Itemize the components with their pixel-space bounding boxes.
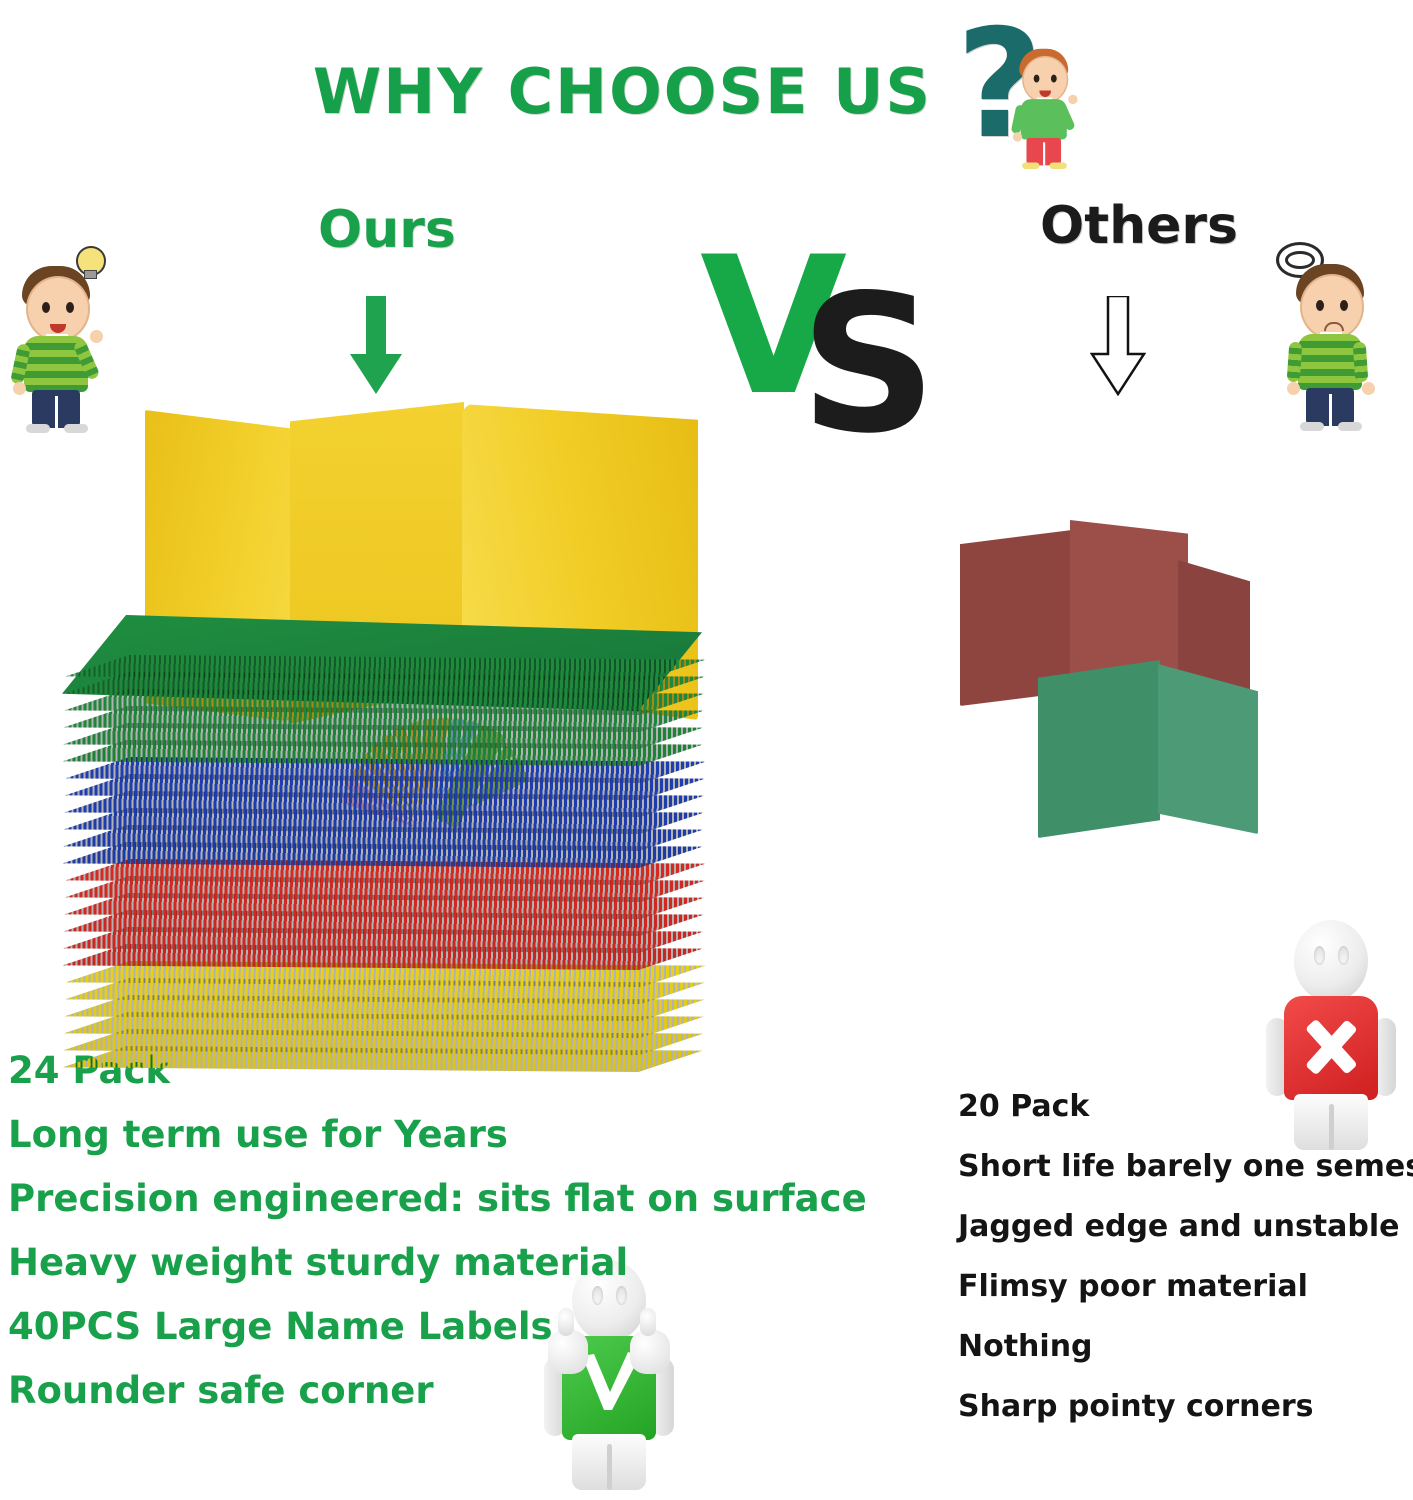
- striped-shirt: [1298, 334, 1362, 390]
- eye-left: [42, 302, 50, 313]
- versus-s: S: [800, 290, 937, 440]
- infographic-canvas: WHY CHOOSE US ?: [0, 0, 1413, 1500]
- hand-left: [1287, 382, 1300, 395]
- ours-product-stack: [62, 655, 742, 1075]
- mouth-frown: [1324, 322, 1344, 331]
- hand-left: [13, 382, 26, 395]
- hand-right: [1362, 382, 1375, 395]
- others-feature-list: 20 Pack Short life barely one semester J…: [958, 1092, 1413, 1452]
- eye-right: [66, 302, 74, 313]
- leg-split: [1329, 394, 1332, 426]
- stack-sheet: [66, 655, 706, 681]
- shoe-right: [1338, 422, 1362, 431]
- eye-left: [1314, 946, 1325, 965]
- shoe-left: [1300, 422, 1324, 431]
- ours-feature-item: Precision engineered: sits flat on surfa…: [8, 1180, 768, 1217]
- maroon-panel-center: [1070, 520, 1188, 690]
- ours-feature-item: Long term use for Years: [8, 1116, 768, 1153]
- eye-right: [1338, 946, 1349, 965]
- others-privacy-shields: [950, 512, 1260, 870]
- arm-left: [1287, 342, 1303, 383]
- others-feature-item: Sharp pointy corners: [958, 1392, 1413, 1422]
- ours-feature-item: 40PCS Large Name Labels: [8, 1308, 768, 1345]
- ours-feature-item: Rounder safe corner: [8, 1372, 768, 1409]
- hand-left: [1013, 132, 1022, 141]
- down-arrow-icon-ours: [348, 296, 404, 396]
- leg-split: [55, 396, 58, 428]
- x-icon: [1298, 1014, 1364, 1080]
- ours-feature-item: Heavy weight sturdy material: [8, 1244, 768, 1281]
- ours-label: Ours: [318, 200, 456, 260]
- lightbulb-base: [84, 270, 97, 279]
- happy-boy-character: [0, 240, 116, 430]
- shoe-right: [1050, 162, 1067, 168]
- others-feature-item: Flimsy poor material: [958, 1272, 1413, 1302]
- down-arrow-icon-others: [1090, 296, 1146, 396]
- shoe-left: [1022, 162, 1039, 168]
- versus-mark: V S: [700, 252, 920, 442]
- others-feature-item: 20 Pack: [958, 1092, 1413, 1122]
- question-girl-character: [1002, 30, 1087, 167]
- green-panel-left: [1038, 660, 1160, 838]
- leg-split: [607, 1444, 612, 1490]
- eye-left: [1316, 300, 1324, 311]
- head: [1294, 920, 1368, 1002]
- sad-boy-character: [1272, 238, 1390, 428]
- eye-right: [1340, 300, 1348, 311]
- hand-right-pointing: [90, 330, 103, 343]
- page-title: WHY CHOOSE US: [313, 55, 932, 128]
- hand-right: [1068, 95, 1077, 104]
- shoe-left: [26, 424, 50, 433]
- others-feature-item: Short life barely one semester: [958, 1152, 1413, 1182]
- page-title-row: WHY CHOOSE US ?: [0, 16, 1413, 166]
- green-panel-right: [1158, 664, 1258, 834]
- ours-feature-list: 24 Pack Long term use for Years Precisio…: [8, 1052, 768, 1436]
- shoe-right: [64, 424, 88, 433]
- others-feature-item: Jagged edge and unstable: [958, 1212, 1413, 1242]
- others-feature-item: Nothing: [958, 1332, 1413, 1362]
- arm-right: [1353, 342, 1369, 383]
- leg-split: [1043, 142, 1045, 165]
- question-mark-character-group: ?: [950, 16, 1100, 166]
- others-label: Others: [1040, 196, 1238, 256]
